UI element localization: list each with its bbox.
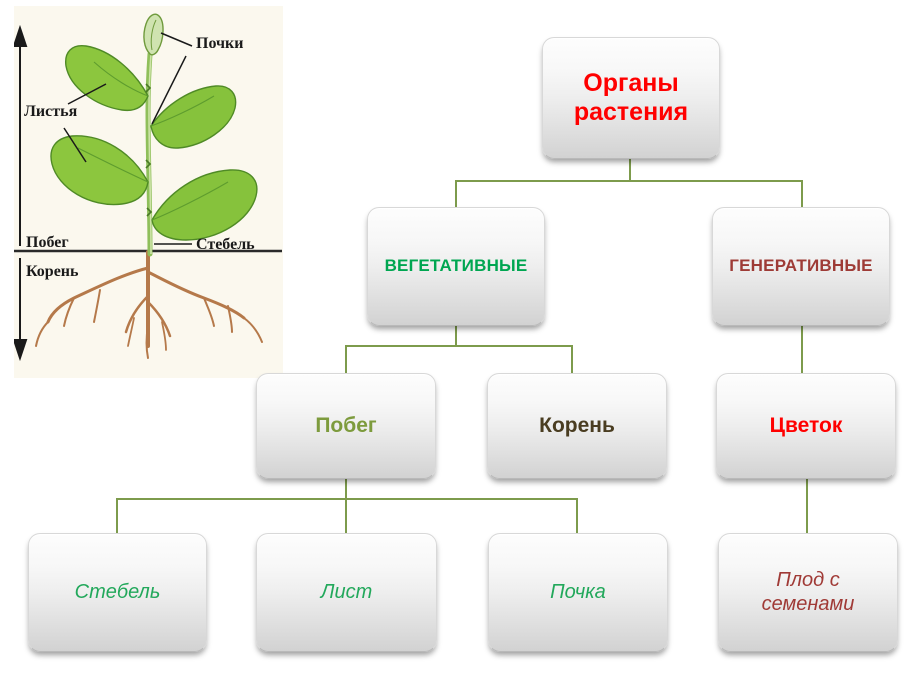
connector-to-list [345, 498, 347, 533]
connector-vegetative-down [455, 325, 457, 347]
connector-to-vegetative [455, 180, 457, 208]
connector-level3-bar [345, 345, 573, 347]
node-label-stebel: Стебель [69, 581, 167, 605]
connector-level2-bar [455, 180, 803, 182]
connector-root-down [629, 158, 631, 182]
node-label-list: Лист [315, 581, 379, 605]
node-label-generativnye: ГЕНЕРАТИВНЫЕ [723, 256, 878, 276]
figure-label-shoot: Побег [26, 234, 69, 251]
node-generativnye[interactable]: ГЕНЕРАТИВНЫЕ [712, 207, 890, 326]
connector-to-generative [801, 180, 803, 208]
connector-to-stebel [116, 498, 118, 533]
node-plod-s-semenami[interactable]: Плод ссеменами [718, 533, 898, 652]
connector-to-pochka [576, 498, 578, 533]
node-vegetativnye[interactable]: ВЕГЕТАТИВНЫЕ [367, 207, 545, 326]
node-cvetok[interactable]: Цветок [716, 373, 896, 479]
node-label-koren: Корень [533, 414, 621, 439]
figure-label-buds: Почки [196, 35, 244, 52]
node-pochka[interactable]: Почка [488, 533, 668, 652]
figure-label-root: Корень [26, 263, 79, 280]
figure-label-leaves: Листья [24, 103, 78, 120]
node-label-vegetativnye: ВЕГЕТАТИВНЫЕ [379, 256, 534, 276]
connector-pobeg-down [345, 478, 347, 500]
plant-anatomy-illustration: Почки Листья Стебель Побег Корень [14, 6, 283, 378]
slide-canvas: Почки Листья Стебель Побег Корень Органы… [0, 0, 910, 686]
node-stebel[interactable]: Стебель [28, 533, 207, 652]
node-pobeg[interactable]: Побег [256, 373, 436, 479]
connector-generative-down [801, 325, 803, 373]
node-label-organy-rasteniya: Органырастения [568, 69, 694, 128]
connector-to-koren [571, 345, 573, 373]
node-label-pobeg: Побег [309, 414, 382, 439]
node-label-plod-s-semenami: Плод ссеменами [756, 569, 861, 616]
connector-cvetok-down [806, 478, 808, 533]
connector-to-pobeg [345, 345, 347, 373]
figure-label-stem: Стебель [196, 236, 255, 253]
node-list[interactable]: Лист [256, 533, 437, 652]
node-label-cvetok: Цветок [764, 414, 849, 439]
node-organy-rasteniya[interactable]: Органырастения [542, 37, 720, 159]
node-label-pochka: Почка [544, 581, 612, 605]
node-koren[interactable]: Корень [487, 373, 667, 479]
